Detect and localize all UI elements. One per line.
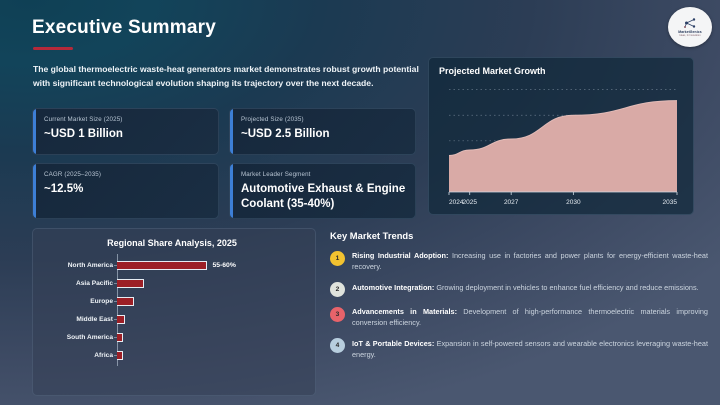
svg-text:2025: 2025	[462, 199, 477, 206]
bar-row: North America55-60%	[117, 256, 303, 274]
page-title: Executive Summary	[32, 17, 216, 39]
trend-item: 1Rising Industrial Adoption: Increasing …	[330, 250, 712, 273]
trend-text: Rising Industrial Adoption: Increasing u…	[352, 250, 708, 273]
logo-name: MarketGenics	[678, 30, 701, 34]
trend-heading: Advancements in Materials:	[352, 307, 457, 316]
regional-share-panel: Regional Share Analysis, 2025 North Amer…	[32, 228, 316, 396]
trend-text: Automotive Integration: Growing deployme…	[352, 282, 708, 293]
trend-item: 4IoT & Portable Devices: Expansion in se…	[330, 338, 712, 361]
key-market-trends-panel: Key Market Trends 1Rising Industrial Ado…	[330, 230, 712, 369]
trend-heading: Rising Industrial Adoption:	[352, 251, 448, 260]
axis-tick	[114, 301, 117, 302]
regional-chart-title: Regional Share Analysis, 2025	[41, 238, 303, 248]
svg-text:2030: 2030	[566, 199, 581, 206]
bar-row: Middle East	[117, 310, 303, 328]
bar-category-label: Asia Pacific	[41, 280, 113, 287]
bar-row: Europe	[117, 292, 303, 310]
trends-title: Key Market Trends	[330, 230, 712, 241]
axis-tick	[114, 355, 117, 356]
bar-row: South America	[117, 328, 303, 346]
axis-tick	[114, 337, 117, 338]
bar-category-label: Africa	[41, 352, 113, 359]
bar-value-label: 55-60%	[212, 262, 235, 269]
kpi-label: Projected Size (2035)	[241, 116, 406, 123]
axis-tick	[114, 265, 117, 266]
kpi-card-market-leader-segment: Market Leader Segment Automotive Exhaust…	[229, 163, 416, 219]
bar	[117, 351, 123, 360]
kpi-value: ~USD 1 Billion	[44, 127, 209, 142]
bar	[117, 315, 125, 324]
area-chart: 20242025202720302035	[439, 80, 685, 208]
growth-chart-title: Projected Market Growth	[439, 66, 683, 76]
kpi-card-projected-size: Projected Size (2035) ~USD 2.5 Billion	[229, 108, 416, 155]
bar	[117, 297, 134, 306]
trend-heading: Automotive Integration:	[352, 283, 434, 292]
trend-text: Advancements in Materials: Development o…	[352, 306, 708, 329]
svg-text:2027: 2027	[504, 199, 519, 206]
trend-list: 1Rising Industrial Adoption: Increasing …	[330, 250, 712, 360]
bar	[117, 279, 144, 288]
bar-category-label: North America	[41, 262, 113, 269]
svg-text:2035: 2035	[663, 199, 678, 206]
trend-heading: IoT & Portable Devices:	[352, 339, 434, 348]
bar-category-label: South America	[41, 334, 113, 341]
bar	[117, 333, 123, 342]
area-chart-svg: 20242025202720302035	[439, 80, 685, 208]
trend-item: 2Automotive Integration: Growing deploym…	[330, 282, 712, 298]
kpi-card-cagr: CAGR (2025–2035) ~12.5%	[32, 163, 219, 219]
logo-tagline: Ideas, In Innovation	[679, 35, 700, 37]
company-logo: MarketGenics Ideas, In Innovation	[668, 7, 712, 47]
bar-category-label: Europe	[41, 298, 113, 305]
trend-item: 3Advancements in Materials: Development …	[330, 306, 712, 329]
kpi-value: ~USD 2.5 Billion	[241, 127, 406, 142]
trend-text: IoT & Portable Devices: Expansion in sel…	[352, 338, 708, 361]
kpi-value: ~12.5%	[44, 182, 209, 197]
bar-category-label: Middle East	[41, 316, 113, 323]
bar	[117, 261, 207, 270]
axis-tick	[114, 283, 117, 284]
kpi-label: Market Leader Segment	[241, 171, 406, 178]
kpi-value: Automotive Exhaust & Engine Coolant (35-…	[241, 182, 406, 211]
bar-row: Asia Pacific	[117, 274, 303, 292]
regional-bar-chart: North America55-60%Asia PacificEuropeMid…	[41, 256, 303, 364]
molecule-icon	[683, 17, 698, 30]
title-underline	[33, 47, 73, 50]
trend-number-badge: 2	[330, 282, 345, 297]
kpi-card-current-market-size: Current Market Size (2025) ~USD 1 Billio…	[32, 108, 219, 155]
kpi-grid: Current Market Size (2025) ~USD 1 Billio…	[32, 108, 416, 227]
kpi-label: CAGR (2025–2035)	[44, 171, 209, 178]
bar-row: Africa	[117, 346, 303, 364]
axis-tick	[114, 319, 117, 320]
trend-number-badge: 4	[330, 338, 345, 353]
kpi-label: Current Market Size (2025)	[44, 116, 209, 123]
intro-paragraph: The global thermoelectric waste-heat gen…	[33, 63, 423, 91]
projected-market-growth-panel: Projected Market Growth 2024202520272030…	[428, 57, 694, 215]
trend-number-badge: 1	[330, 251, 345, 266]
trend-number-badge: 3	[330, 307, 345, 322]
